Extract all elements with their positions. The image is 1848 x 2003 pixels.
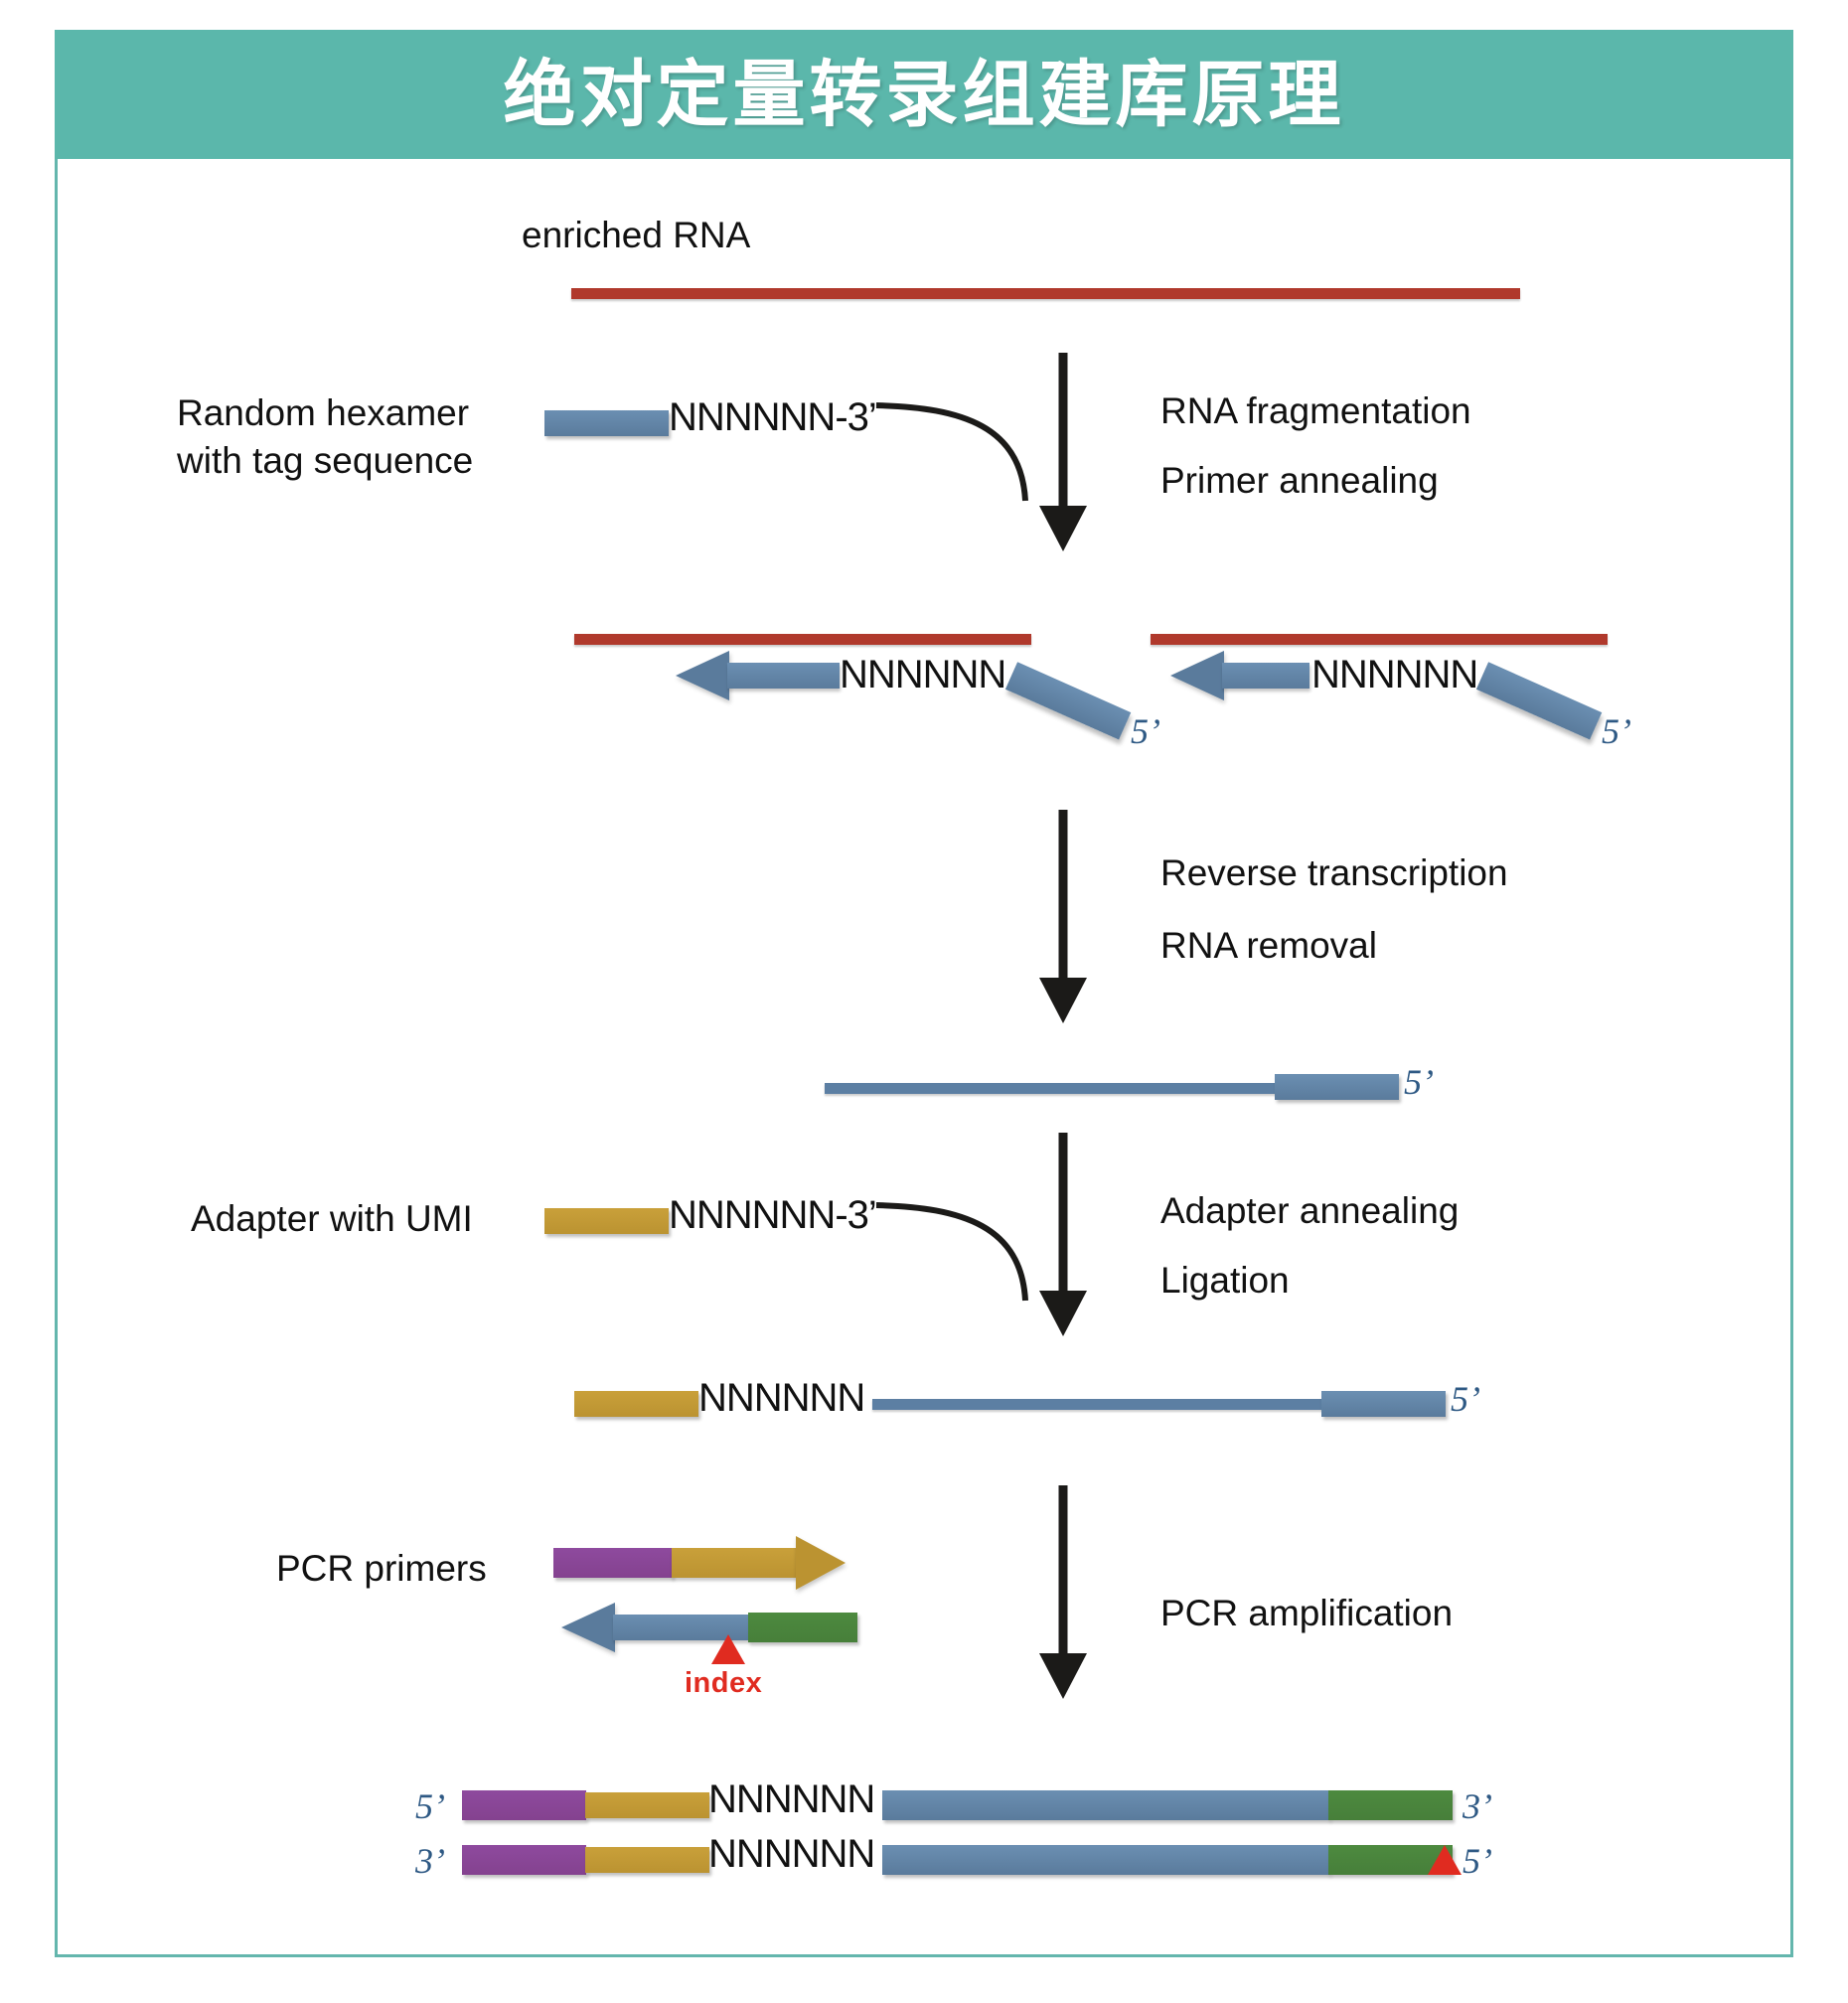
diagram-canvas: 绝对定量转录组建库原理 enriched RNA Random hexamer … [0, 0, 1848, 2003]
page-title: 绝对定量转录组建库原理 [504, 59, 1345, 131]
fragment-left-rna [574, 634, 1031, 645]
fragment-left-prime-label: 5’ [1131, 710, 1160, 752]
step-4-arrow [1033, 1485, 1093, 1699]
final-bottom-purple-block [462, 1845, 586, 1875]
adapter-umi-sequence: NNNNNN-3’ [669, 1193, 876, 1238]
cdna-tag-block [1275, 1074, 1399, 1100]
cdna-prime-label: 5’ [1404, 1061, 1434, 1103]
final-bottom-cdna-bar [882, 1845, 1329, 1875]
cdna-strand [825, 1083, 1277, 1094]
pcr-forward-primer-purple [553, 1548, 673, 1578]
final-bottom-gold-block [585, 1847, 709, 1873]
final-top-purple-block [462, 1790, 586, 1820]
step-2-label-1: RNA removal [1160, 922, 1377, 969]
final-top-right-prime: 3’ [1463, 1785, 1492, 1827]
fragment-right-prime-label: 5’ [1602, 710, 1631, 752]
random-hexamer-label-line1: Random hexamer [177, 389, 469, 436]
pcr-forward-primer-arrow [672, 1548, 846, 1578]
diagram-frame [55, 30, 1793, 1957]
fragment-right-sequence: NNNNNN [1311, 653, 1477, 697]
step-1-label-0: RNA fragmentation [1160, 387, 1471, 434]
adapter-umi-block [544, 1208, 669, 1234]
fragment-right-primer-arrow [1170, 663, 1309, 689]
index-label: index [685, 1667, 762, 1700]
step-3-arrow [1033, 1133, 1093, 1336]
hexamer-tag-block [544, 410, 669, 436]
final-bottom-right-prime: 5’ [1463, 1840, 1492, 1882]
ligated-sequence: NNNNNN [698, 1376, 864, 1421]
step-2-label-0: Reverse transcription [1160, 849, 1508, 896]
ligated-prime-label: 5’ [1451, 1378, 1480, 1420]
enriched-rna-caption: enriched RNA [522, 212, 750, 258]
final-top-green-block [1328, 1790, 1453, 1820]
hexamer-sequence: NNNNNN-3’ [669, 395, 876, 440]
ligated-tag-block [1321, 1391, 1446, 1417]
pcr-primers-label: PCR primers [276, 1545, 487, 1592]
final-top-cdna-bar [882, 1790, 1329, 1820]
title-bar: 绝对定量转录组建库原理 [55, 30, 1793, 159]
final-bottom-sequence: NNNNNN [708, 1832, 874, 1877]
step-1-label-1: Primer annealing [1160, 457, 1439, 504]
adapter-umi-label: Adapter with UMI [191, 1195, 473, 1242]
fragment-right-rna [1151, 634, 1608, 645]
fragment-left-sequence: NNNNNN [840, 653, 1005, 697]
step-1-arrow [1033, 353, 1093, 551]
enriched-rna-strand [571, 288, 1520, 299]
ligated-cdna-strand [872, 1399, 1324, 1410]
index-marker-icon [711, 1634, 745, 1664]
final-top-sequence: NNNNNN [708, 1777, 874, 1822]
final-bottom-left-prime: 3’ [415, 1840, 445, 1882]
step-2-arrow [1033, 810, 1093, 1023]
step-3-label-1: Ligation [1160, 1257, 1290, 1304]
fragment-left-primer-arrow [676, 663, 840, 689]
final-index-marker-icon [1428, 1845, 1462, 1875]
final-top-gold-block [585, 1792, 709, 1818]
step-3-label-0: Adapter annealing [1160, 1187, 1459, 1234]
final-top-left-prime: 5’ [415, 1785, 445, 1827]
random-hexamer-label-line2: with tag sequence [177, 437, 473, 484]
ligated-adapter-block [574, 1391, 698, 1417]
step-4-label-0: PCR amplification [1160, 1590, 1453, 1636]
pcr-reverse-primer-green [748, 1613, 857, 1642]
